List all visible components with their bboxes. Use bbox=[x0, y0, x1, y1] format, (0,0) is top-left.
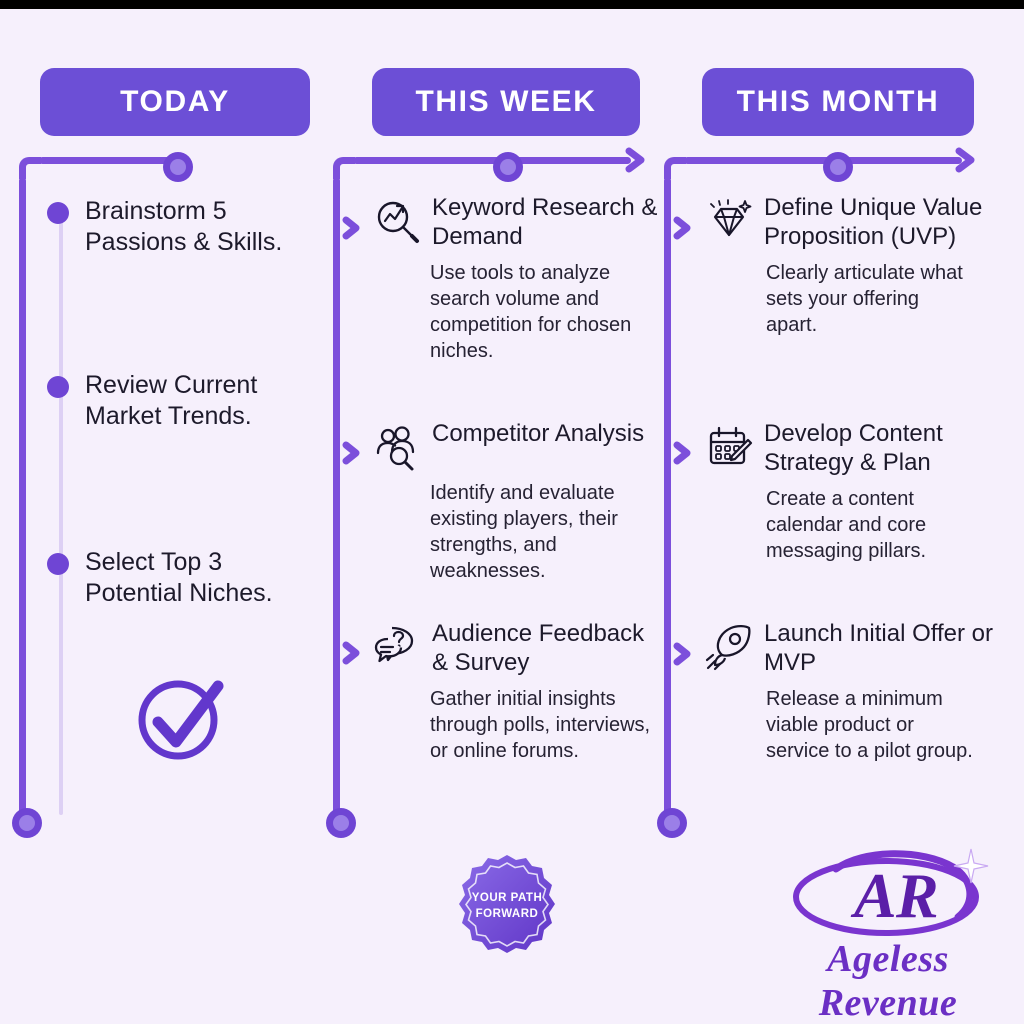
column-header-this-month[interactable]: THIS MONTH bbox=[702, 68, 974, 136]
speech-bubbles-question-icon bbox=[372, 622, 422, 672]
card-header: Launch Initial Offer or MVP bbox=[704, 620, 994, 678]
branch-arrow-icon bbox=[672, 441, 694, 465]
list-item-description: Release a minimum viable product or serv… bbox=[766, 686, 981, 764]
brand-logo[interactable]: A R Ageless Revenue bbox=[758, 845, 1018, 995]
magnifier-chart-icon bbox=[372, 196, 422, 246]
check-circle-icon bbox=[132, 668, 232, 773]
card-header: Develop Content Strategy & Plan bbox=[704, 420, 994, 478]
rail-corner-this-month bbox=[664, 157, 686, 179]
list-item-description: Identify and evaluate existing players, … bbox=[430, 480, 662, 584]
your-path-forward-badge[interactable]: YOUR PATH FORWARD bbox=[453, 853, 561, 961]
card-header: Define Unique Value Proposition (UVP) bbox=[704, 194, 994, 252]
card-header: Audience Feedback & Survey bbox=[372, 620, 662, 678]
list-item-description: Clearly articulate what sets your offeri… bbox=[766, 260, 966, 338]
badge-line-2: FORWARD bbox=[476, 907, 539, 923]
svg-text:A: A bbox=[850, 860, 897, 931]
list-item[interactable]: Launch Initial Offer or MVP Release a mi… bbox=[704, 620, 994, 764]
branch-arrow-icon bbox=[672, 642, 694, 666]
column-header-today[interactable]: TODAY bbox=[40, 68, 310, 136]
column-header-this-week[interactable]: THIS WEEK bbox=[372, 68, 640, 136]
rail-node-today-top bbox=[163, 152, 193, 182]
badge-label: YOUR PATH FORWARD bbox=[453, 853, 561, 961]
column-header-this-week-label: THIS WEEK bbox=[415, 85, 596, 119]
rail-vertical-today bbox=[19, 177, 26, 822]
rail-corner-this-week bbox=[333, 157, 355, 179]
list-item-label: Select Top 3 Potential Niches. bbox=[85, 547, 297, 608]
branch-arrow-icon bbox=[341, 441, 363, 465]
list-item-title: Keyword Research & Demand bbox=[432, 194, 662, 252]
list-item-label: Review Current Market Trends. bbox=[85, 370, 297, 431]
card-header: Keyword Research & Demand bbox=[372, 194, 662, 252]
rail-horizontal-today bbox=[39, 157, 179, 164]
calendar-pencil-icon bbox=[704, 422, 754, 472]
rail-guide-today bbox=[59, 205, 63, 815]
card-header: Competitor Analysis bbox=[372, 420, 662, 472]
list-item[interactable]: Audience Feedback & Survey Gather initia… bbox=[372, 620, 662, 764]
list-item[interactable]: Define Unique Value Proposition (UVP) Cl… bbox=[704, 194, 994, 338]
list-item-description: Create a content calendar and core messa… bbox=[766, 486, 971, 564]
rail-vertical-this-month bbox=[664, 177, 671, 822]
people-magnifier-icon bbox=[372, 422, 422, 472]
svg-text:R: R bbox=[895, 860, 939, 931]
rail-node-this-month-bottom bbox=[657, 808, 687, 838]
rail-node-this-month bbox=[823, 152, 853, 182]
list-item-title: Audience Feedback & Survey bbox=[432, 620, 662, 678]
rocket-icon bbox=[704, 622, 754, 672]
ar-monogram-icon: A R bbox=[758, 845, 1018, 945]
list-item-description: Use tools to analyze search volume and c… bbox=[430, 260, 662, 364]
list-item-title: Develop Content Strategy & Plan bbox=[764, 420, 994, 478]
column-header-this-month-label: THIS MONTH bbox=[737, 85, 940, 119]
rail-vertical-this-week bbox=[333, 177, 340, 822]
list-item[interactable]: Select Top 3 Potential Niches. bbox=[47, 547, 297, 608]
rail-corner-today bbox=[19, 157, 41, 179]
list-item-label: Brainstorm 5 Passions & Skills. bbox=[85, 196, 297, 257]
rail-node-today-bottom bbox=[12, 808, 42, 838]
rail-horizontal-this-week bbox=[353, 157, 631, 164]
list-item-title: Launch Initial Offer or MVP bbox=[764, 620, 994, 678]
list-item-description: Gather initial insights through polls, i… bbox=[430, 686, 662, 764]
arrow-right-icon bbox=[955, 147, 981, 173]
rail-node-this-week bbox=[493, 152, 523, 182]
bullet-dot-icon bbox=[47, 202, 69, 224]
branch-arrow-icon bbox=[341, 216, 363, 240]
bullet-dot-icon bbox=[47, 376, 69, 398]
diamond-sparkle-icon bbox=[704, 196, 754, 246]
branch-arrow-icon bbox=[672, 216, 694, 240]
column-header-today-label: TODAY bbox=[120, 85, 230, 119]
badge-line-1: YOUR PATH bbox=[472, 891, 543, 907]
rail-node-this-week-bottom bbox=[326, 808, 356, 838]
list-item-title: Define Unique Value Proposition (UVP) bbox=[764, 194, 994, 252]
arrow-right-icon bbox=[625, 147, 651, 173]
list-item[interactable]: Develop Content Strategy & Plan Create a… bbox=[704, 420, 994, 564]
list-item[interactable]: Review Current Market Trends. bbox=[47, 370, 297, 431]
list-item[interactable]: Brainstorm 5 Passions & Skills. bbox=[47, 196, 297, 257]
letterbox-bar-top bbox=[0, 0, 1024, 9]
list-item[interactable]: Keyword Research & Demand Use tools to a… bbox=[372, 194, 662, 364]
branch-arrow-icon bbox=[341, 641, 363, 665]
infographic-canvas: TODAY THIS WEEK THIS MONTH Brainstorm 5 … bbox=[0, 0, 1024, 1024]
bullet-dot-icon bbox=[47, 553, 69, 575]
brand-name: Ageless Revenue bbox=[758, 937, 1018, 1024]
list-item[interactable]: Competitor Analysis Identify and evaluat… bbox=[372, 420, 662, 584]
list-item-title: Competitor Analysis bbox=[432, 420, 644, 449]
